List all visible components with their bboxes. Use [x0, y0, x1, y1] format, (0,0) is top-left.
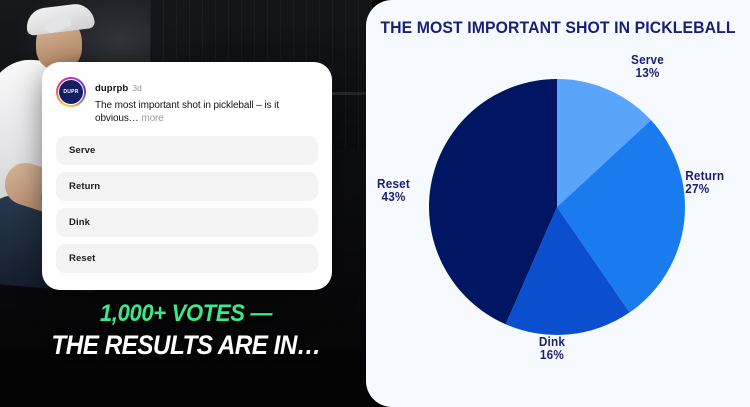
chart-panel: THE MOST IMPORTANT SHOT IN PICKLEBALL Se… [366, 0, 750, 407]
poll-option-label: Dink [69, 217, 90, 228]
pie-label-serve: Serve 13% [631, 54, 664, 80]
pie-chart-svg [428, 78, 686, 336]
poll-author-row: duprpb3d [95, 78, 318, 96]
poll-header: DUPR duprpb3d The most important shot in… [56, 77, 318, 125]
infographic-canvas: DUPR duprpb3d The most important shot in… [0, 0, 750, 407]
poll-option-return[interactable]: Return [56, 172, 318, 201]
poll-text-block: duprpb3d The most important shot in pick… [95, 77, 318, 125]
poll-question-text: The most important shot in pickleball – … [95, 100, 279, 124]
poll-option-label: Return [69, 181, 100, 192]
pie-label-return: Return 27% [685, 170, 724, 196]
pie-label-return-value: 27% [685, 183, 724, 196]
poll-question: The most important shot in pickleball – … [95, 99, 318, 125]
kicker-votes-line: 1,000+ VOTES — [15, 300, 357, 328]
poll-option-label: Reset [69, 253, 95, 264]
poll-option-dink[interactable]: Dink [56, 208, 318, 237]
poll-option-reset[interactable]: Reset [56, 244, 318, 273]
pie-chart [428, 78, 686, 336]
pie-label-dink: Dink 16% [539, 336, 565, 362]
avatar-label: DUPR [58, 79, 84, 105]
player-cap [25, 2, 96, 36]
pie-label-reset-value: 43% [377, 191, 410, 204]
results-kicker: 1,000+ VOTES — THE RESULTS ARE IN… [0, 300, 372, 361]
pie-label-serve-value: 13% [631, 67, 664, 80]
pie-slice-group [429, 79, 685, 335]
pie-label-reset: Reset 43% [377, 178, 410, 204]
instagram-poll-card: DUPR duprpb3d The most important shot in… [42, 62, 332, 290]
poll-more-link[interactable]: more [141, 113, 163, 124]
poll-timestamp: 3d [132, 83, 141, 93]
poll-username[interactable]: duprpb [95, 83, 128, 94]
poll-options-list: Serve Return Dink Reset [56, 136, 318, 273]
kicker-results-line: THE RESULTS ARE IN… [19, 330, 354, 361]
pie-label-dink-value: 16% [539, 349, 565, 362]
chart-title: THE MOST IMPORTANT SHOT IN PICKLEBALL [379, 18, 736, 38]
avatar[interactable]: DUPR [56, 77, 86, 107]
poll-option-label: Serve [69, 145, 95, 156]
left-photo-panel: DUPR duprpb3d The most important shot in… [0, 0, 372, 407]
poll-option-serve[interactable]: Serve [56, 136, 318, 165]
